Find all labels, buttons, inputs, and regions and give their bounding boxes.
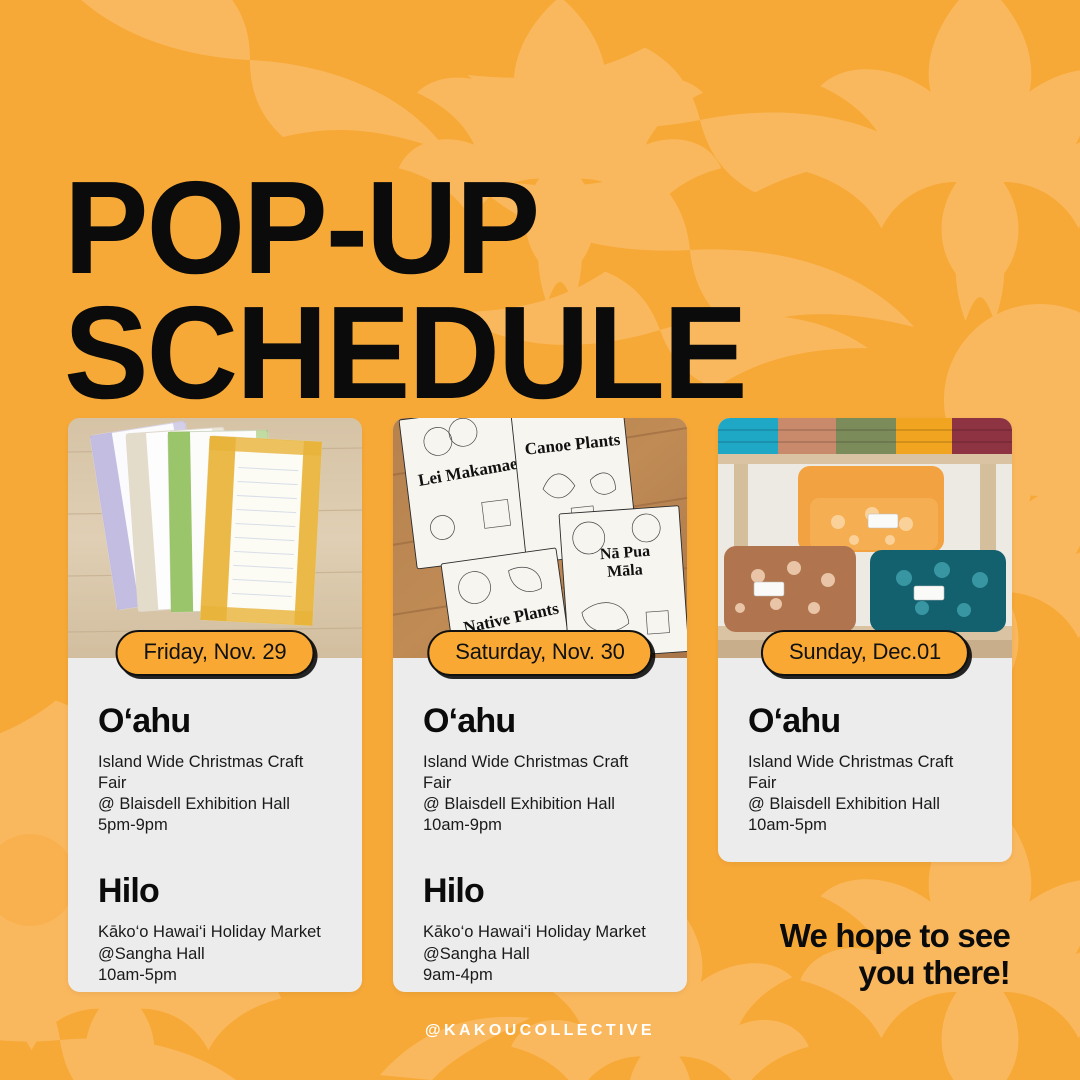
card-photo bbox=[68, 418, 362, 658]
svg-text:Nā Pua: Nā Pua bbox=[599, 543, 650, 563]
location-name: O‘ahu bbox=[423, 704, 657, 738]
event-details: Island Wide Christmas Craft Fair @ Blais… bbox=[423, 752, 657, 836]
closing-message: We hope to see you there! bbox=[780, 918, 1010, 992]
card-body: O‘ahu Island Wide Christmas Craft Fair @… bbox=[68, 658, 362, 992]
schedule-card[interactable]: Sunday, Dec.01 O‘ahu Island Wide Christm… bbox=[718, 418, 1012, 862]
location-name: O‘ahu bbox=[748, 704, 982, 738]
date-badge[interactable]: Saturday, Nov. 30 bbox=[427, 630, 652, 676]
event-details: Island Wide Christmas Craft Fair @ Blais… bbox=[98, 752, 332, 836]
card-photo bbox=[718, 418, 1012, 658]
svg-text:Māla: Māla bbox=[607, 561, 644, 580]
date-badge[interactable]: Friday, Nov. 29 bbox=[116, 630, 315, 676]
event-details: Kāko‘o Hawai‘i Holiday Market @Sangha Ha… bbox=[423, 922, 657, 985]
spacer bbox=[98, 836, 332, 874]
location-name: O‘ahu bbox=[98, 704, 332, 738]
schedule-card[interactable]: Friday, Nov. 29 O‘ahu Island Wide Christ… bbox=[68, 418, 362, 992]
date-badge[interactable]: Sunday, Dec.01 bbox=[761, 630, 969, 676]
location-name: Hilo bbox=[98, 874, 332, 908]
spacer bbox=[423, 836, 657, 874]
event-details: Island Wide Christmas Craft Fair @ Blais… bbox=[748, 752, 982, 836]
card-photo: Lei Makamae Canoe Plants bbox=[393, 418, 687, 658]
social-handle: @KAKOUCOLLECTIVE bbox=[0, 1022, 1080, 1040]
poster-canvas: POP-UP SCHEDULE bbox=[0, 0, 1080, 1080]
card-body: O‘ahu Island Wide Christmas Craft Fair @… bbox=[718, 658, 1012, 862]
schedule-card[interactable]: Lei Makamae Canoe Plants bbox=[393, 418, 687, 992]
event-details: Kāko‘o Hawai‘i Holiday Market @Sangha Ha… bbox=[98, 922, 332, 985]
card-body: O‘ahu Island Wide Christmas Craft Fair @… bbox=[393, 658, 687, 992]
location-name: Hilo bbox=[423, 874, 657, 908]
